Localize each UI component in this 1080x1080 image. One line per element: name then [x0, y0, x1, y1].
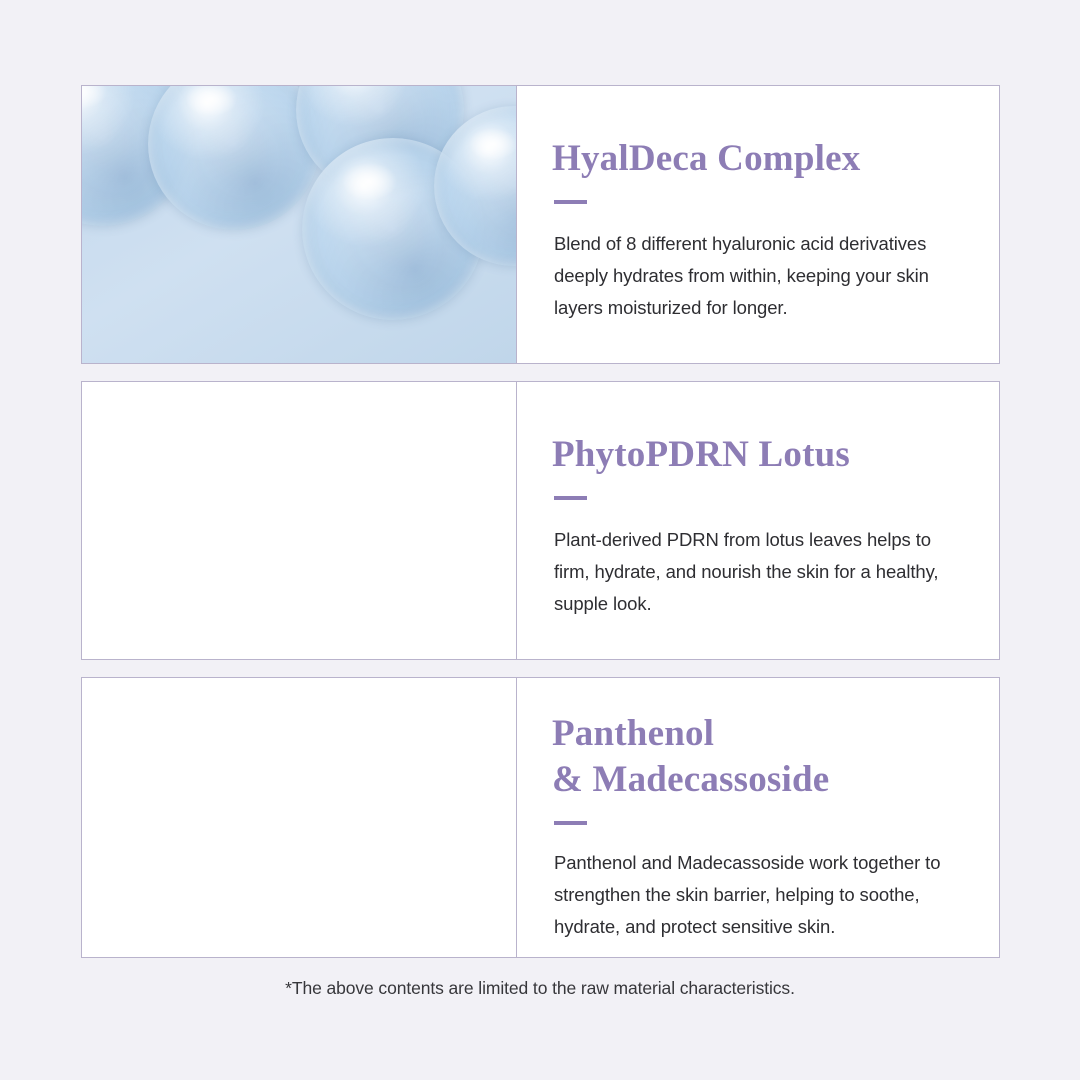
ingredient-card-body: Panthenol& Madecassoside Panthenol and M… [517, 678, 999, 957]
ingredient-infographic: HyalDeca Complex Blend of 8 different hy… [0, 0, 1080, 1080]
phytopdrn-lotus-image [82, 382, 517, 659]
ingredient-card-body: PhytoPDRN Lotus Plant-derived PDRN from … [517, 382, 999, 659]
ingredient-title: HyalDeca Complex [552, 136, 959, 182]
ingredient-title-line-2: & Madecassoside [552, 759, 829, 800]
ingredient-description: Panthenol and Madecassoside work togethe… [554, 847, 959, 943]
ingredient-card: HyalDeca Complex Blend of 8 different hy… [81, 85, 1000, 364]
accent-rule [554, 821, 587, 825]
ingredient-description: Plant-derived PDRN from lotus leaves hel… [554, 524, 959, 620]
panthenol-madecassoside-image [82, 678, 517, 957]
footnote-disclaimer: *The above contents are limited to the r… [0, 978, 1080, 999]
ingredient-card: Panthenol& Madecassoside Panthenol and M… [81, 677, 1000, 958]
bubble-shape [148, 86, 320, 230]
ingredient-title: PhytoPDRN Lotus [552, 432, 959, 478]
accent-rule [554, 496, 587, 500]
accent-rule [554, 200, 587, 204]
ingredient-card: PhytoPDRN Lotus Plant-derived PDRN from … [81, 381, 1000, 660]
ingredient-card-body: HyalDeca Complex Blend of 8 different hy… [517, 86, 999, 363]
ingredient-title: Panthenol& Madecassoside [552, 711, 959, 803]
ingredient-description: Blend of 8 different hyaluronic acid der… [554, 228, 959, 324]
ingredient-title-line-1: Panthenol [552, 713, 714, 754]
hyaldeca-complex-image [82, 86, 517, 363]
ingredient-card-list: HyalDeca Complex Blend of 8 different hy… [81, 85, 1000, 975]
